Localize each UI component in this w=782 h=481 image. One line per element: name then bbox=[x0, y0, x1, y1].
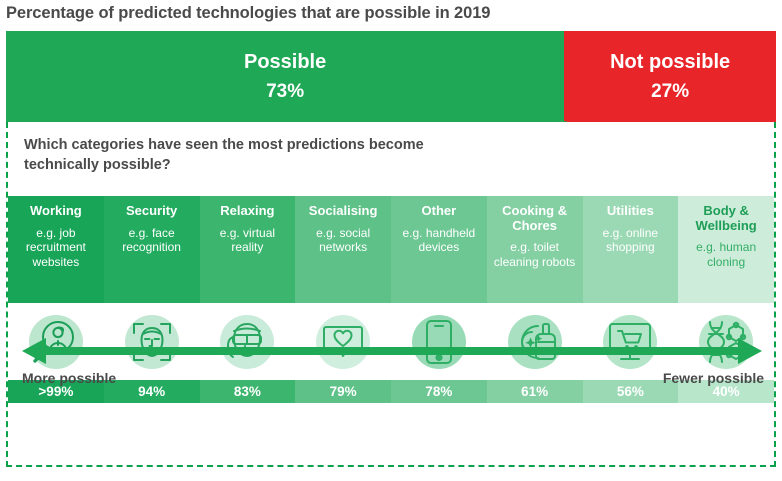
category-name: Utilities bbox=[607, 204, 654, 219]
category-header: Relaxinge.g. virtual reality bbox=[200, 196, 296, 303]
page-title: Percentage of predicted technologies tha… bbox=[6, 4, 490, 23]
scale-label-left: More possible bbox=[22, 370, 116, 386]
category-name: Other bbox=[422, 204, 457, 219]
category-example: e.g. human cloning bbox=[682, 240, 770, 269]
category-name: Working bbox=[30, 204, 82, 219]
infographic-root: Percentage of predicted technologies tha… bbox=[0, 0, 782, 481]
panel-question: Which categories have seen the most pred… bbox=[24, 135, 454, 175]
category-name: Socialising bbox=[309, 204, 378, 219]
category-example: e.g. social networks bbox=[299, 226, 387, 255]
category-header: Securitye.g. face recognition bbox=[104, 196, 200, 303]
summary-segment-possible: Possible 73% bbox=[6, 31, 564, 122]
category-header: Cooking & Chorese.g. toilet cleaning rob… bbox=[487, 196, 583, 303]
category-header: Workinge.g. job recruitment websites bbox=[8, 196, 104, 303]
category-example: e.g. toilet cleaning robots bbox=[491, 240, 579, 269]
category-header: Utilitiese.g. online shopping bbox=[583, 196, 679, 303]
category-example: e.g. face recognition bbox=[108, 226, 196, 255]
categories-panel: Which categories have seen the most pred… bbox=[6, 122, 776, 467]
category-example: e.g. online shopping bbox=[587, 226, 675, 255]
not-possible-label: Not possible bbox=[610, 51, 730, 73]
category-name: Relaxing bbox=[220, 204, 274, 219]
category-example: e.g. handheld devices bbox=[395, 226, 483, 255]
summary-segment-not-possible: Not possible 27% bbox=[564, 31, 776, 122]
category-header: Othere.g. handheld devices bbox=[391, 196, 487, 303]
category-example: e.g. job recruitment websites bbox=[12, 226, 100, 270]
category-header: Body & Wellbeinge.g. human cloning bbox=[678, 196, 774, 303]
category-header: Socialisinge.g. social networks bbox=[295, 196, 391, 303]
scale-labels: More possible Fewer possible bbox=[22, 370, 764, 386]
scale-label-right: Fewer possible bbox=[663, 370, 764, 386]
possible-value: 73% bbox=[266, 82, 304, 103]
possible-label: Possible bbox=[244, 51, 326, 73]
category-example: e.g. virtual reality bbox=[204, 226, 292, 255]
not-possible-value: 27% bbox=[651, 82, 689, 103]
category-name: Cooking & Chores bbox=[491, 204, 579, 233]
possibility-arrow bbox=[22, 334, 762, 368]
category-name: Body & Wellbeing bbox=[682, 204, 770, 233]
summary-bar: Possible 73% Not possible 27% bbox=[6, 31, 776, 122]
category-name: Security bbox=[126, 204, 177, 219]
